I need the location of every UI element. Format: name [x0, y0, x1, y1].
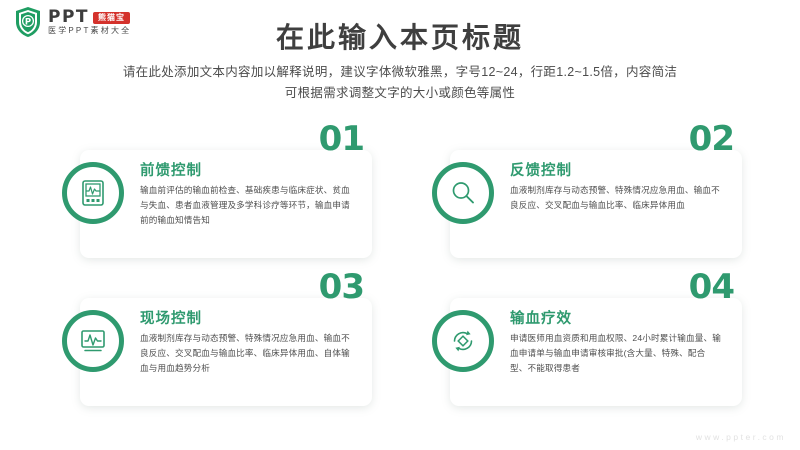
card-heading: 前馈控制 — [140, 162, 352, 180]
refresh-cycle-icon — [432, 310, 494, 372]
card-item[interactable]: 02 反馈控制 血液制剂库存与动态预警、特殊情况应急用血、输血不良反应、交叉配血… — [432, 128, 742, 260]
card-text-block: 反馈控制 血液制剂库存与动态预警、特殊情况应急用血、输血不良反应、交叉配血与输血… — [510, 162, 722, 213]
card-heading: 输血疗效 — [510, 310, 722, 328]
card-heading: 反馈控制 — [510, 162, 722, 180]
card-item[interactable]: 01 前馈控制 输血前评估的输血前检查、基础疾患与临床症状、贫血与失血、患者血液… — [62, 128, 372, 260]
card-number: 03 — [319, 270, 364, 304]
card-item[interactable]: 03 现场控制 血液制剂库存与动态预警、特殊情况应急用血、输血不良反应、交叉配血… — [62, 276, 372, 408]
card-number: 01 — [319, 122, 364, 156]
card-number: 02 — [689, 122, 734, 156]
card-grid: 01 前馈控制 输血前评估的输血前检查、基础疾患与临床症状、贫血与失血、患者血液… — [62, 128, 742, 408]
card-description: 申请医师用血资质和用血权限、24小时累计输血量、输血申请单与输血申请审核审批(含… — [510, 331, 722, 375]
chart-waveform-icon — [62, 310, 124, 372]
card-text-block: 现场控制 血液制剂库存与动态预警、特殊情况应急用血、输血不良反应、交叉配血与输血… — [140, 310, 352, 375]
card-description: 血液制剂库存与动态预警、特殊情况应急用血、输血不良反应、交叉配血与输血比率、临床… — [140, 331, 352, 375]
search-icon — [432, 162, 494, 224]
card-description: 输血前评估的输血前检查、基础疾患与临床症状、贫血与失血、患者血液管理及多学科诊疗… — [140, 183, 352, 227]
page-subtitle-line-1: 请在此处添加文本内容加以解释说明，建议字体微软雅黑，字号12~24，行距1.2~… — [0, 62, 800, 83]
card-item[interactable]: 04 输血疗效 申请医师用血资质和用血权限、24小时累计输血量、输血申请单与输血… — [432, 276, 742, 408]
card-description: 血液制剂库存与动态预警、特殊情况应急用血、输血不良反应、交叉配血与输血比率、临床… — [510, 183, 722, 213]
page-title: 在此输入本页标题 — [0, 16, 800, 56]
footer-watermark: www.ppter.com — [696, 432, 786, 442]
card-text-block: 输血疗效 申请医师用血资质和用血权限、24小时累计输血量、输血申请单与输血申请审… — [510, 310, 722, 375]
card-text-block: 前馈控制 输血前评估的输血前检查、基础疾患与临床症状、贫血与失血、患者血液管理及… — [140, 162, 352, 227]
card-heading: 现场控制 — [140, 310, 352, 328]
page-subtitle: 请在此处添加文本内容加以解释说明，建议字体微软雅黑，字号12~24，行距1.2~… — [0, 62, 800, 105]
page-subtitle-line-2: 可根据需求调整文字的大小或颜色等属性 — [0, 83, 800, 104]
monitor-ecg-icon — [62, 162, 124, 224]
card-number: 04 — [689, 270, 734, 304]
